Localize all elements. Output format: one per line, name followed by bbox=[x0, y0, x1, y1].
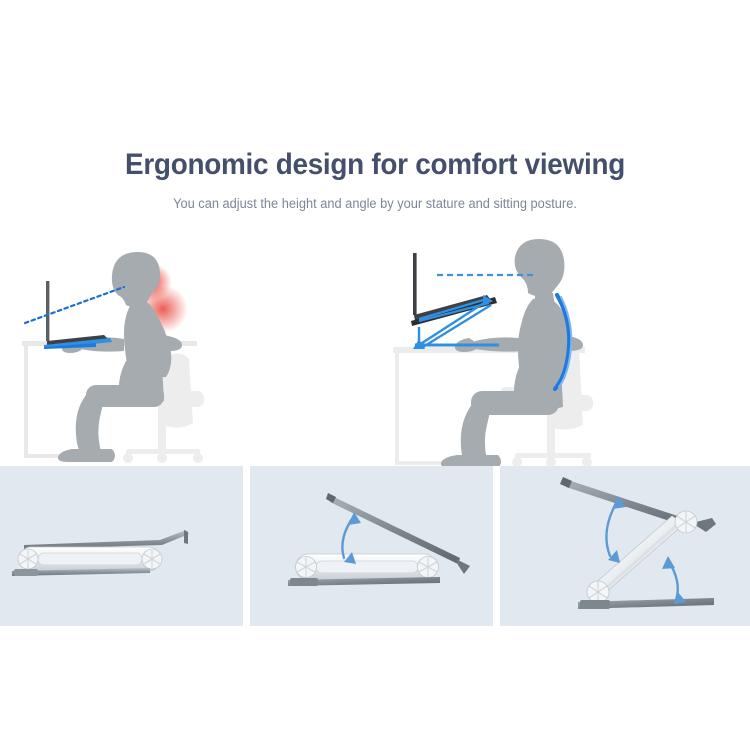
illustration-bad-posture bbox=[0, 235, 375, 470]
angle-arrow-top-heads bbox=[608, 496, 626, 563]
header-section: Ergonomic design for comfort viewing You… bbox=[0, 0, 750, 240]
laptop-low bbox=[44, 281, 112, 349]
person-upright bbox=[441, 239, 583, 468]
page-subtitle: You can adjust the height and angle by y… bbox=[19, 196, 732, 211]
illustrations-section bbox=[0, 235, 750, 470]
page-title: Ergonomic design for comfort viewing bbox=[26, 148, 724, 182]
stand-body bbox=[20, 547, 160, 571]
stand-top-plate bbox=[24, 530, 189, 549]
footer-whitespace bbox=[0, 626, 750, 750]
illustration-good-posture bbox=[375, 235, 750, 470]
angle-arrow-top bbox=[606, 500, 618, 556]
stand-body bbox=[296, 554, 436, 580]
panel-stand-raised bbox=[500, 466, 750, 626]
sight-line-down bbox=[25, 287, 124, 323]
product-panels-section bbox=[0, 466, 750, 626]
laptop-raised bbox=[411, 253, 497, 326]
support-arm-upper bbox=[592, 516, 684, 594]
panel-stand-tilted bbox=[250, 466, 493, 626]
panel-stand-folded bbox=[0, 466, 243, 626]
angle-arrow-bottom-heads bbox=[662, 556, 686, 604]
